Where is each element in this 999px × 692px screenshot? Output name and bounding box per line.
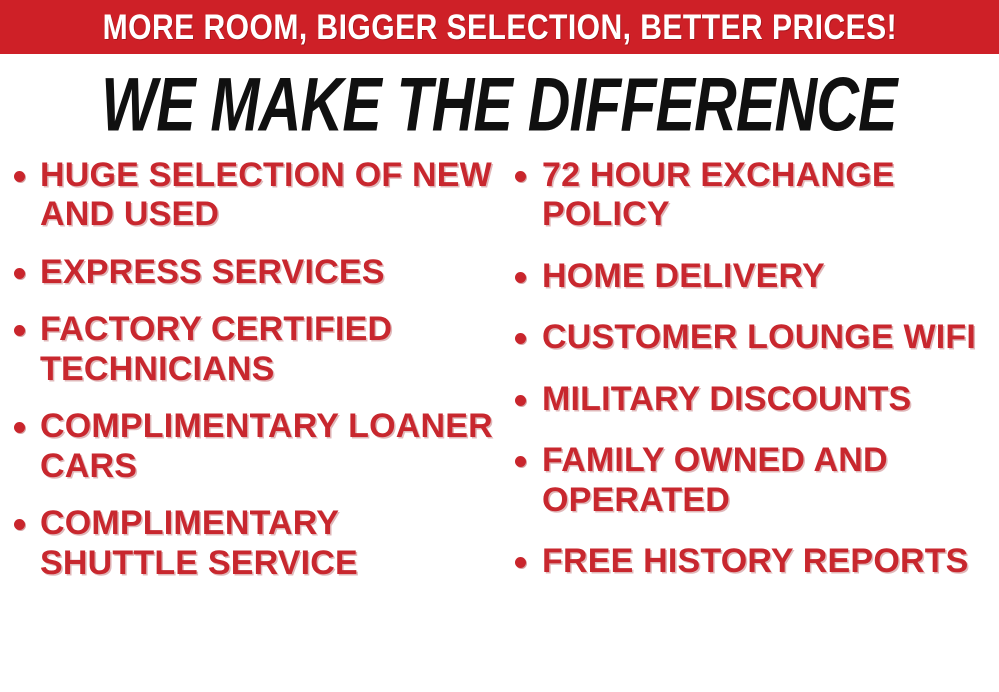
- list-item: FACTORY CERTIFIED TECHNICIANS: [14, 310, 504, 389]
- bullet-dot-icon: [515, 395, 526, 406]
- list-item: HOME DELIVERY: [515, 257, 999, 296]
- bullet-dot-icon: [14, 325, 25, 336]
- top-promo-banner: MORE ROOM, BIGGER SELECTION, BETTER PRIC…: [0, 0, 999, 54]
- list-item-label: MILITARY DISCOUNTS: [542, 380, 911, 419]
- list-item-label: HUGE SELECTION OF NEW AND USED: [40, 156, 504, 235]
- list-item: COMPLIMENTARY LOANER CARS: [14, 407, 504, 486]
- list-item: CUSTOMER LOUNGE WIFI: [515, 318, 999, 357]
- list-item-label: HOME DELIVERY: [542, 257, 825, 296]
- list-item-label: CUSTOMER LOUNGE WIFI: [542, 318, 976, 357]
- bullet-dot-icon: [515, 333, 526, 344]
- list-item: HUGE SELECTION OF NEW AND USED: [14, 156, 504, 235]
- bullet-dot-icon: [14, 171, 25, 182]
- list-item: FREE HISTORY REPORTS: [515, 542, 999, 581]
- list-item-label: FREE HISTORY REPORTS: [542, 542, 969, 581]
- bullet-dot-icon: [14, 268, 25, 279]
- list-item: EXPRESS SERVICES: [14, 253, 504, 292]
- bullet-dot-icon: [515, 456, 526, 467]
- top-promo-banner-text: MORE ROOM, BIGGER SELECTION, BETTER PRIC…: [102, 10, 896, 45]
- list-item-label: FACTORY CERTIFIED TECHNICIANS: [40, 310, 504, 389]
- list-item: COMPLIMENTARY SHUTTLE SERVICE: [14, 504, 504, 583]
- list-item: 72 HOUR EXCHANGE POLICY: [515, 156, 999, 235]
- bullet-dot-icon: [14, 519, 25, 530]
- list-item: FAMILY OWNED AND OPERATED: [515, 441, 999, 520]
- benefits-column-right: 72 HOUR EXCHANGE POLICY HOME DELIVERY CU…: [515, 156, 999, 604]
- advertisement-graphic: MORE ROOM, BIGGER SELECTION, BETTER PRIC…: [0, 0, 999, 692]
- bullet-dot-icon: [515, 272, 526, 283]
- page-title: WE MAKE THE DIFFERENCE: [102, 67, 897, 143]
- headline-container: WE MAKE THE DIFFERENCE: [0, 62, 999, 148]
- list-item-label: COMPLIMENTARY LOANER CARS: [40, 407, 504, 486]
- list-item: MILITARY DISCOUNTS: [515, 380, 999, 419]
- list-item-label: FAMILY OWNED AND OPERATED: [542, 441, 999, 520]
- benefits-column-left: HUGE SELECTION OF NEW AND USED EXPRESS S…: [14, 156, 504, 601]
- list-item-label: EXPRESS SERVICES: [40, 253, 385, 292]
- list-item-label: 72 HOUR EXCHANGE POLICY: [542, 156, 999, 235]
- bullet-dot-icon: [14, 422, 25, 433]
- bullet-dot-icon: [515, 557, 526, 568]
- list-item-label: COMPLIMENTARY SHUTTLE SERVICE: [40, 504, 504, 583]
- benefits-columns: HUGE SELECTION OF NEW AND USED EXPRESS S…: [0, 156, 999, 692]
- bullet-dot-icon: [515, 171, 526, 182]
